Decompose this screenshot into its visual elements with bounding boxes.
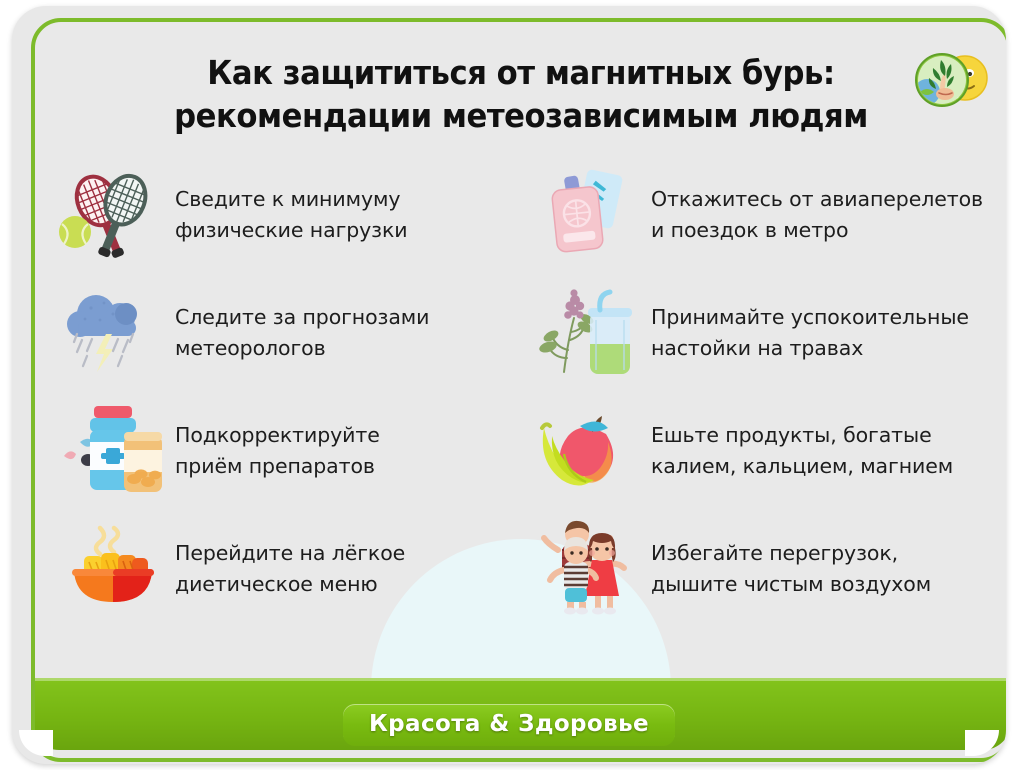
tip-text: Откажитесь от авиаперелетов и поездок в …	[651, 184, 983, 245]
tip-item: Принимайте успокоительные настойки на тр…	[533, 274, 1003, 392]
tip-line-2: и поездок в метро	[651, 215, 983, 245]
tip-line-2: дышите чистым воздухом	[651, 569, 931, 599]
tip-line-2: физические нагрузки	[175, 215, 408, 245]
banana-apple-icon	[533, 401, 643, 501]
band-highlight	[31, 678, 1006, 681]
tip-text: Следите за прогнозами метеорологов	[175, 302, 429, 363]
tips-grid: Сведите к минимуму физические нагрузки	[35, 156, 1006, 628]
title-line-2: рекомендации метеозависимым людям	[154, 95, 889, 138]
tip-line-2: калием, кальцием, магнием	[651, 451, 953, 481]
tip-item: Следите за прогнозами метеорологов	[57, 274, 527, 392]
tip-line-1: Перейдите на лёгкое	[175, 538, 405, 568]
tip-item: Подкорректируйте приём препаратов	[57, 392, 527, 510]
logo-artwork	[911, 48, 989, 120]
tip-item: Сведите к минимуму физические нагрузки	[57, 156, 527, 274]
brand-badge[interactable]: Красота & Здоровье	[343, 704, 675, 746]
tennis-rackets-icon	[57, 165, 167, 265]
tip-text: Сведите к минимуму физические нагрузки	[175, 184, 408, 245]
tip-item: Избегайте перегрузок, дышите чистым возд…	[533, 510, 1003, 628]
tip-item: Откажитесь от авиаперелетов и поездок в …	[533, 156, 1003, 274]
tip-text: Ешьте продукты, богатые калием, кальцием…	[651, 420, 953, 481]
herbal-drink-icon	[533, 283, 643, 383]
brand-logo	[911, 48, 989, 120]
tip-item: Перейдите на лёгкое диетическое меню	[57, 510, 527, 628]
tip-line-2: диетическое меню	[175, 569, 405, 599]
tip-line-1: Принимайте успокоительные	[651, 302, 969, 332]
tip-line-1: Избегайте перегрузок,	[651, 538, 931, 568]
hot-bowl-icon	[57, 519, 167, 619]
tip-line-1: Подкорректируйте	[175, 420, 380, 450]
title-block: Как защититься от магнитных бурь: рекоме…	[35, 22, 1006, 138]
content-panel: Как защититься от магнитных бурь: рекоме…	[35, 22, 1006, 694]
medicine-bottles-icon	[57, 401, 167, 501]
page-title: Как защититься от магнитных бурь: рекоме…	[154, 52, 889, 138]
infographic-poster: Как защититься от магнитных бурь: рекоме…	[0, 0, 1018, 770]
tip-line-2: метеорологов	[175, 333, 429, 363]
tip-line-1: Сведите к минимуму	[175, 184, 408, 214]
tip-text: Перейдите на лёгкое диетическое меню	[175, 538, 405, 599]
tip-line-2: настойки на травах	[651, 333, 969, 363]
tip-line-1: Следите за прогнозами	[175, 302, 429, 332]
title-line-1: Как защититься от магнитных бурь:	[154, 52, 889, 95]
tip-item: Ешьте продукты, богатые калием, кальцием…	[533, 392, 1003, 510]
tip-text: Принимайте успокоительные настойки на тр…	[651, 302, 969, 363]
tip-line-2: приём препаратов	[175, 451, 380, 481]
poster-frame: Как защититься от магнитных бурь: рекоме…	[12, 6, 1006, 764]
tip-text: Подкорректируйте приём препаратов	[175, 420, 380, 481]
tip-line-1: Ешьте продукты, богатые	[651, 420, 953, 450]
tip-line-1: Откажитесь от авиаперелетов	[651, 184, 983, 214]
tip-text: Избегайте перегрузок, дышите чистым возд…	[651, 538, 931, 599]
children-playing-icon	[533, 519, 643, 619]
rain-cloud-icon	[57, 283, 167, 383]
brand-badge-label: Красота & Здоровье	[369, 711, 649, 737]
passport-tickets-icon	[533, 165, 643, 265]
